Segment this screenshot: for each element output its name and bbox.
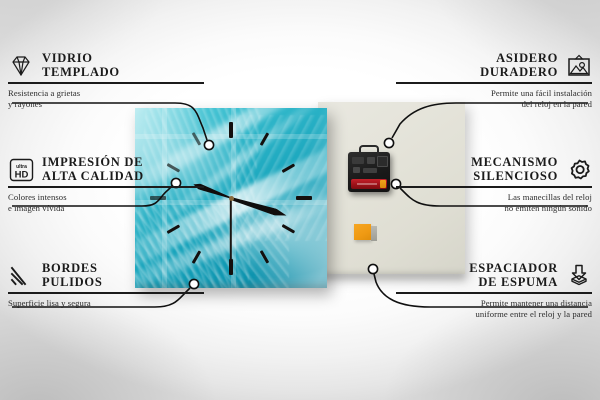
feature-header: ASIDERO DURADERO — [396, 52, 592, 79]
movement-detail — [367, 157, 375, 164]
ultra-hd-badge-icon: ultra HD — [8, 157, 34, 183]
infographic-canvas: VIDRIO TEMPLADO Resistencia a grietas y … — [0, 0, 600, 400]
clock-tick-2 — [282, 163, 295, 172]
diamond-icon — [8, 53, 34, 79]
feature-asidero-duradero[interactable]: ASIDERO DURADERO Permite una fácil insta… — [396, 52, 592, 110]
clock-tick-8 — [167, 224, 180, 233]
clock-tick-3 — [296, 196, 312, 200]
feature-impresion-alta-calidad[interactable]: ultra HD IMPRESIÓN DE ALTA CALIDAD Color… — [8, 156, 204, 214]
feature-header: BORDES PULIDOS — [8, 262, 204, 289]
clock-tick-5 — [260, 250, 269, 263]
clock-minute-hand — [230, 195, 288, 219]
feature-title: IMPRESIÓN DE ALTA CALIDAD — [42, 156, 144, 183]
feature-title: MECANISMO SILENCIOSO — [471, 156, 558, 183]
polished-edges-icon — [8, 263, 34, 289]
feature-title: BORDES PULIDOS — [42, 262, 102, 289]
movement-detail — [377, 156, 388, 167]
feature-divider — [8, 186, 204, 188]
wall-hanger-icon — [359, 145, 379, 156]
feature-title: VIDRIO TEMPLADO — [42, 52, 120, 79]
gear-icon — [566, 157, 592, 183]
clock-center-cap — [229, 196, 234, 201]
clock-tick-6 — [229, 259, 233, 275]
feature-divider — [396, 292, 592, 294]
movement-detail — [363, 168, 377, 173]
clock-tick-4 — [282, 224, 295, 233]
feature-espaciador-de-espuma[interactable]: ESPACIADOR DE ESPUMA Permite mantener un… — [396, 262, 592, 320]
foam-spacer-pad — [354, 224, 371, 240]
aa-battery — [351, 179, 387, 189]
svg-text:HD: HD — [14, 169, 28, 180]
clock-movement-mechanism — [348, 152, 390, 192]
feature-vidrio-templado[interactable]: VIDRIO TEMPLADO Resistencia a grietas y … — [8, 52, 204, 110]
feature-mecanismo-silencioso[interactable]: MECANISMO SILENCIOSO Las manecillas del … — [396, 156, 592, 214]
picture-frame-hanger-icon — [566, 53, 592, 79]
feature-divider — [396, 186, 592, 188]
feature-title: ASIDERO DURADERO — [480, 52, 558, 79]
feature-divider — [8, 292, 204, 294]
clock-tick-12 — [229, 122, 233, 138]
foam-spacer-arrow-icon — [566, 263, 592, 289]
feature-header: ultra HD IMPRESIÓN DE ALTA CALIDAD — [8, 156, 204, 183]
movement-detail — [353, 167, 360, 173]
feature-bordes-pulidos[interactable]: BORDES PULIDOS Superficie lisa y segura — [8, 262, 204, 309]
feature-divider — [8, 82, 204, 84]
feature-header: VIDRIO TEMPLADO — [8, 52, 204, 79]
clock-second-hand — [230, 198, 232, 260]
feature-divider — [396, 82, 592, 84]
feature-title: ESPACIADOR DE ESPUMA — [469, 262, 558, 289]
movement-detail — [352, 157, 364, 164]
feature-header: MECANISMO SILENCIOSO — [396, 156, 592, 183]
feature-header: ESPACIADOR DE ESPUMA — [396, 262, 592, 289]
